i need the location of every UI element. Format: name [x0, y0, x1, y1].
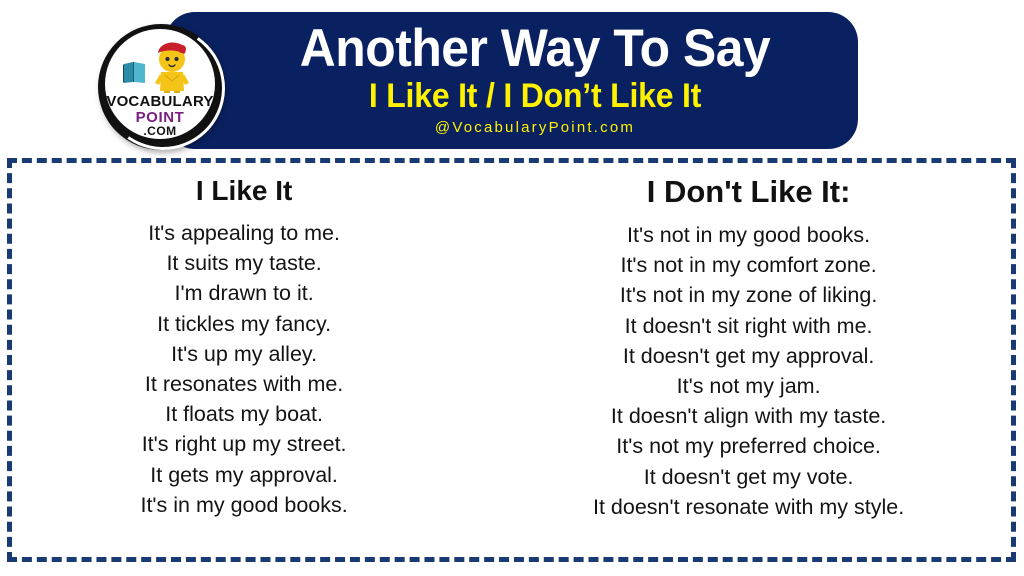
phrase-list-like: It's appealing to me. It suits my taste.… [7, 218, 481, 520]
list-item: It doesn't resonate with my style. [481, 492, 1016, 522]
logo-highlight-arc [91, 16, 235, 160]
list-item: It doesn't sit right with me. [481, 311, 1016, 341]
page-subtitle: I Like It / I Don’t Like It [239, 76, 831, 116]
list-item: It resonates with me. [7, 369, 481, 399]
list-item: It's not my preferred choice. [481, 431, 1016, 461]
list-item: It's appealing to me. [7, 218, 481, 248]
list-item: It gets my approval. [7, 460, 481, 490]
column-i-dont-like-it: I Don't Like It: It's not in my good boo… [481, 175, 1016, 562]
list-item: It doesn't align with my taste. [481, 401, 1016, 431]
column-heading: I Don't Like It: [481, 175, 1016, 209]
list-item: It floats my boat. [7, 399, 481, 429]
column-heading: I Like It [7, 175, 481, 207]
brand-logo: VOCABULARY POINT .COM [98, 24, 224, 150]
phrase-columns: I Like It It's appealing to me. It suits… [7, 158, 1016, 562]
list-item: It's not in my comfort zone. [481, 250, 1016, 280]
header-banner: Another Way To Say I Like It / I Don’t L… [165, 12, 858, 149]
list-item: It's not in my good books. [481, 220, 1016, 250]
list-item: It doesn't get my approval. [481, 341, 1016, 371]
list-item: It suits my taste. [7, 248, 481, 278]
list-item: It tickles my fancy. [7, 309, 481, 339]
list-item: It doesn't get my vote. [481, 462, 1016, 492]
list-item: It's not in my zone of liking. [481, 280, 1016, 310]
page-title: Another Way To Say [239, 20, 831, 78]
phrase-list-dislike: It's not in my good books. It's not in m… [481, 220, 1016, 522]
header-text-block: Another Way To Say I Like It / I Don’t L… [220, 20, 850, 138]
column-i-like-it: I Like It It's appealing to me. It suits… [7, 175, 481, 562]
site-handle: @VocabularyPoint.com [220, 118, 850, 138]
list-item: It's not my jam. [481, 371, 1016, 401]
list-item: It's up my alley. [7, 339, 481, 369]
list-item: It's right up my street. [7, 429, 481, 459]
list-item: It's in my good books. [7, 490, 481, 520]
list-item: I'm drawn to it. [7, 278, 481, 308]
